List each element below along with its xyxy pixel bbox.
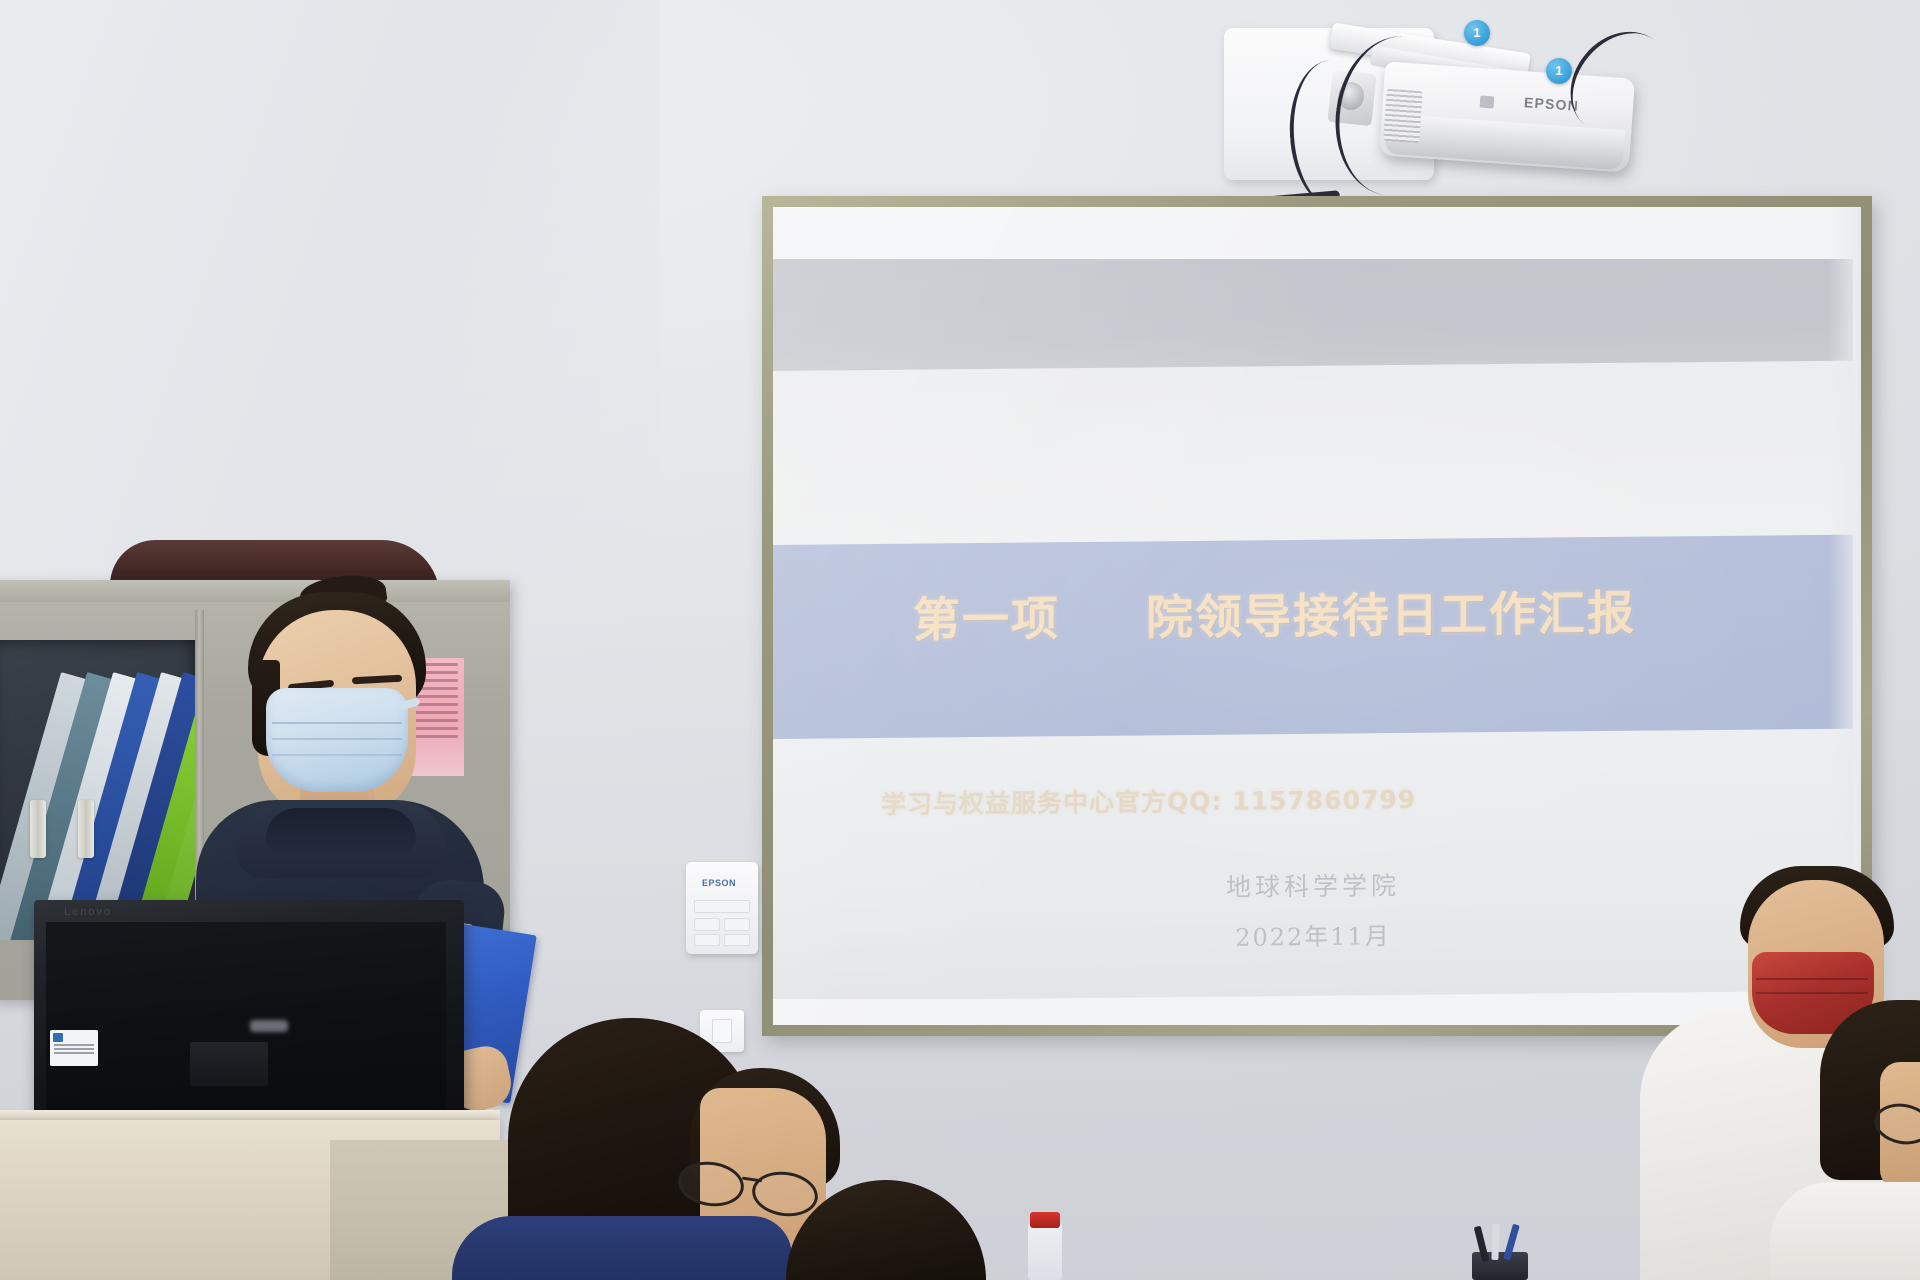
water-bottle-cap <box>1030 1212 1060 1228</box>
presenter-hood-opening <box>266 808 416 854</box>
wall-panel-button-3b[interactable] <box>724 934 750 946</box>
slide-band-gray <box>773 259 1853 375</box>
slide-title: 第一项院领导接待日工作汇报 <box>913 573 1793 650</box>
monitor-screen <box>46 922 446 1124</box>
cabinet-glass-door <box>0 640 195 940</box>
monitor-reflection-bench <box>190 1042 268 1086</box>
presenter-face-mask <box>266 688 408 792</box>
projector-badge-icon <box>1480 96 1495 109</box>
slide-title-part2: 院领导接待日工作汇报 <box>1146 586 1636 646</box>
pen <box>1491 1224 1499 1260</box>
wall-panel-button-2a[interactable] <box>694 918 720 931</box>
projector-indicator-dot-2: 1 <box>1546 58 1572 84</box>
asset-sticker-line <box>54 1052 94 1054</box>
cabinet-handle-left[interactable] <box>30 800 46 858</box>
cabinet-top-edge <box>0 580 510 602</box>
whiteboard-surface: 第一项院领导接待日工作汇报 学习与权益服务中心官方QQ: 1157860799 … <box>773 207 1861 1025</box>
asset-sticker-line <box>54 1048 94 1050</box>
light-switch-rocker[interactable] <box>712 1019 732 1043</box>
classroom-photo-scene: EPSON 1 1 第一项院领导接待日工作汇报 学习与权益服务中心官方QQ: 1… <box>0 0 1920 1280</box>
wall-panel-brand-label: EPSON <box>702 878 736 888</box>
projected-slide: 第一项院领导接待日工作汇报 学习与权益服务中心官方QQ: 1157860799 … <box>773 259 1853 999</box>
monitor-reflection-highlight <box>250 1020 288 1032</box>
projector-indicator-dot-1: 1 <box>1464 20 1490 46</box>
foreground-person-1-shoulder <box>452 1216 792 1280</box>
slide-title-part1: 第一项 <box>913 592 1060 648</box>
wall-panel-button-2b[interactable] <box>724 918 750 931</box>
wall-panel-button-row-1[interactable] <box>694 900 750 913</box>
water-bottle <box>1028 1222 1062 1280</box>
whiteboard: 第一项院领导接待日工作汇报 学习与权益服务中心官方QQ: 1157860799 … <box>762 196 1872 1036</box>
cabinet-handle-right[interactable] <box>78 800 94 858</box>
asset-sticker-line <box>54 1044 94 1046</box>
slide-title-spacer <box>1060 634 1146 635</box>
monitor-brand-label: Lenovo <box>64 906 112 918</box>
right-person-2-shoulder <box>1770 1182 1920 1280</box>
asset-sticker-logo-icon <box>53 1033 63 1042</box>
wall-panel-button-3a[interactable] <box>694 934 720 946</box>
monitor-asset-sticker <box>50 1030 98 1066</box>
slide-band-white-upper <box>773 361 1853 549</box>
